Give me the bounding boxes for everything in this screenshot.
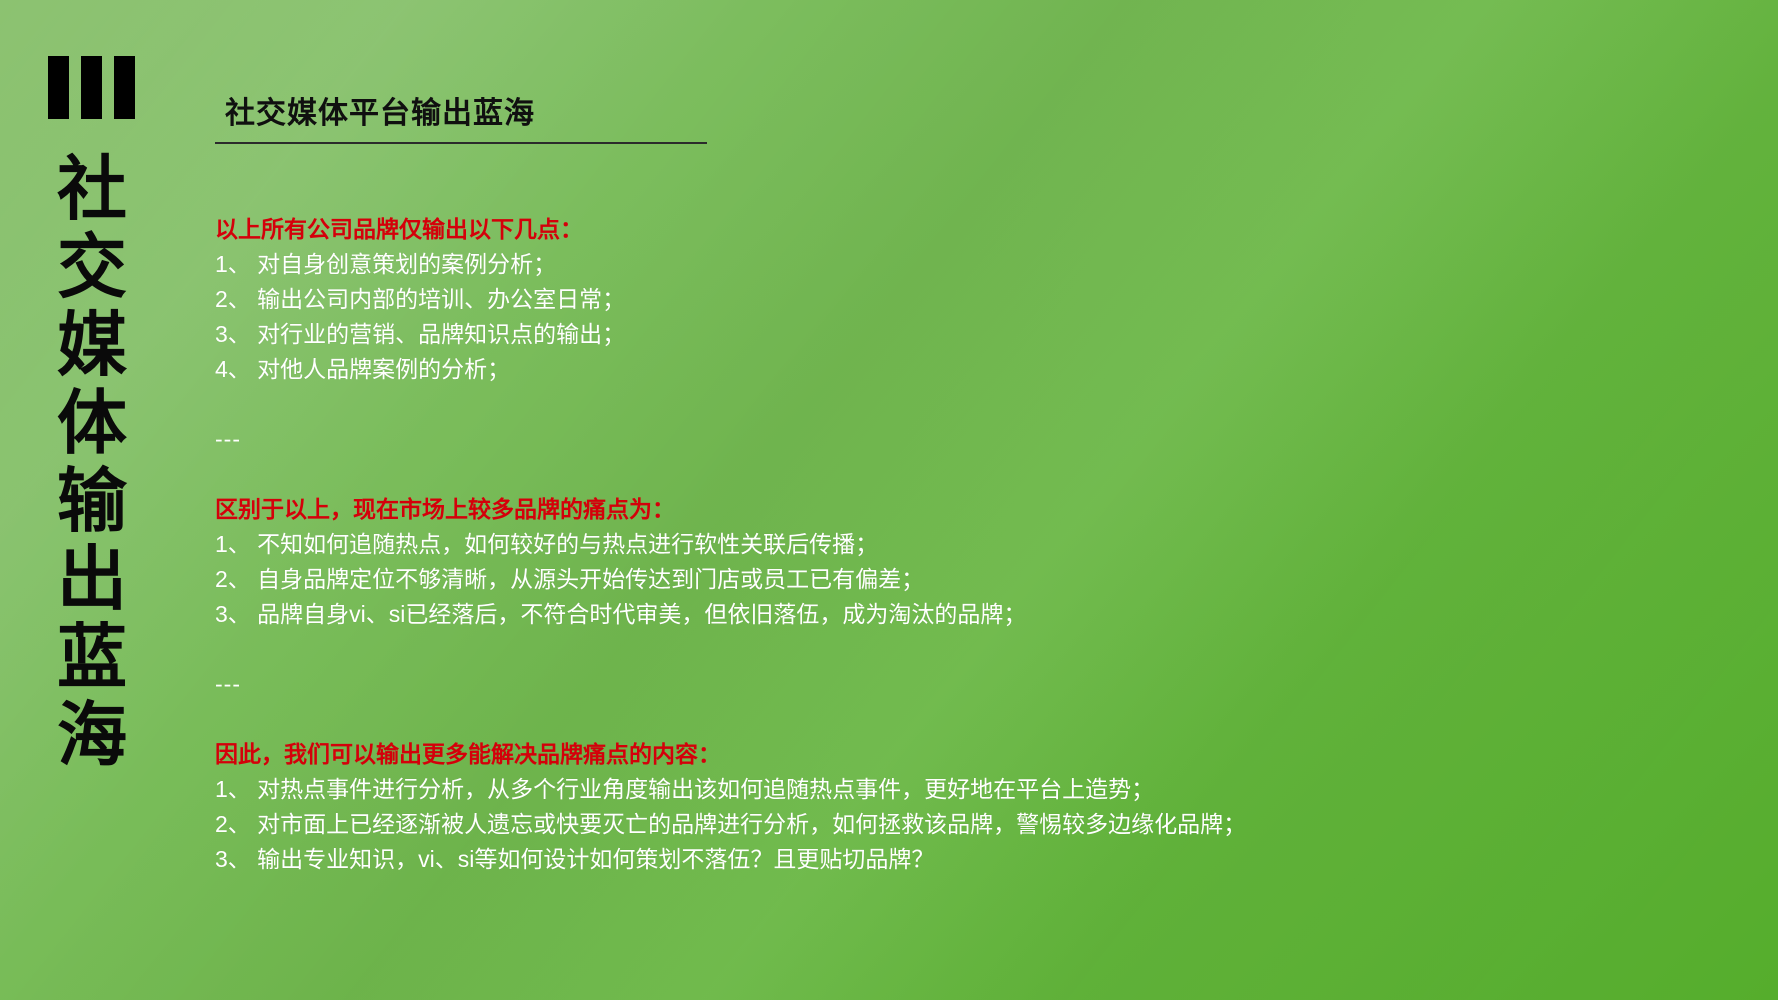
section-2: --- 区别于以上，现在市场上较多品牌的痛点为： 1、 不知如何追随热点，如何较…: [215, 422, 1615, 632]
section-2-separator: ---: [215, 422, 1615, 457]
slide-content: 社交媒体平台输出蓝海 以上所有公司品牌仅输出以下几点： 1、 对自身创意策划的案…: [215, 0, 1715, 1000]
vertical-title-char: 出: [57, 540, 127, 618]
section-3: --- 因此，我们可以输出更多能解决品牌痛点的内容： 1、 对热点事件进行分析，…: [215, 667, 1615, 877]
logo-bar-3: [114, 56, 135, 119]
section-3-heading: 因此，我们可以输出更多能解决品牌痛点的内容：: [215, 737, 1615, 772]
left-rail: 社 交 媒 体 输 出 蓝 海: [0, 0, 170, 1000]
vertical-title-char: 蓝: [57, 618, 127, 696]
section-1-item: 2、 输出公司内部的培训、办公室日常；: [215, 282, 1615, 317]
section-1-item: 1、 对自身创意策划的案例分析；: [215, 247, 1615, 282]
section-2-item: 3、 品牌自身vi、si已经落后，不符合时代审美，但依旧落伍，成为淘汰的品牌；: [215, 597, 1615, 632]
page-title: 社交媒体平台输出蓝海: [225, 88, 535, 132]
section-3-item: 3、 输出专业知识，vi、si等如何设计如何策划不落伍？且更贴切品牌？: [215, 842, 1615, 877]
logo-bar-2: [81, 56, 102, 119]
spacer: [215, 457, 1615, 492]
section-3-separator: ---: [215, 667, 1615, 702]
vertical-title-char: 体: [57, 384, 127, 462]
section-2-item: 2、 自身品牌定位不够清晰，从源头开始传达到门店或员工已有偏差；: [215, 562, 1615, 597]
vertical-title-char: 媒: [57, 306, 127, 384]
section-1: 以上所有公司品牌仅输出以下几点： 1、 对自身创意策划的案例分析； 2、 输出公…: [215, 212, 1615, 387]
section-1-heading: 以上所有公司品牌仅输出以下几点：: [215, 212, 1615, 247]
logo-bar-1: [48, 56, 69, 119]
section-2-item: 1、 不知如何追随热点，如何较好的与热点进行软性关联后传播；: [215, 527, 1615, 562]
spacer: [215, 632, 1615, 667]
spacer: [215, 702, 1615, 737]
three-bars-logo-icon: [48, 56, 135, 119]
vertical-title-char: 交: [57, 228, 127, 306]
body-block: 以上所有公司品牌仅输出以下几点： 1、 对自身创意策划的案例分析； 2、 输出公…: [215, 212, 1615, 877]
section-3-item: 2、 对市面上已经逐渐被人遗忘或快要灭亡的品牌进行分析，如何拯救该品牌，警惕较多…: [215, 807, 1615, 842]
section-2-heading: 区别于以上，现在市场上较多品牌的痛点为：: [215, 492, 1615, 527]
spacer: [215, 387, 1615, 422]
title-underline: [215, 142, 707, 144]
section-3-item: 1、 对热点事件进行分析，从多个行业角度输出该如何追随热点事件，更好地在平台上造…: [215, 772, 1615, 807]
section-1-item: 3、 对行业的营销、品牌知识点的输出；: [215, 317, 1615, 352]
vertical-title-char: 社: [57, 150, 127, 228]
vertical-title-char: 海: [57, 696, 127, 774]
vertical-title: 社 交 媒 体 输 出 蓝 海: [46, 150, 138, 774]
section-1-item: 4、 对他人品牌案例的分析；: [215, 352, 1615, 387]
vertical-title-char: 输: [57, 462, 127, 540]
presentation-slide: 社 交 媒 体 输 出 蓝 海 社交媒体平台输出蓝海 以上所有公司品牌仅输出以下…: [0, 0, 1778, 1000]
